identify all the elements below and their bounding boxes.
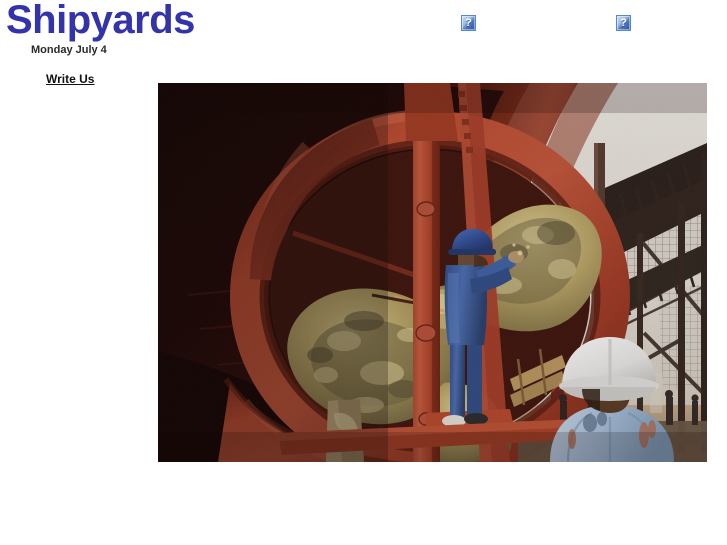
- question-mark-icon: ?: [465, 18, 472, 29]
- question-mark-icon: ?: [620, 18, 627, 29]
- write-us-link[interactable]: Write Us: [46, 72, 94, 86]
- broken-image-placeholder-2[interactable]: ?: [616, 15, 631, 31]
- photo-image: [158, 83, 707, 462]
- shipyard-propeller-photo: Shipyard workers servicing a ship's bron…: [158, 83, 707, 462]
- date-line: Monday July 4: [31, 44, 107, 57]
- broken-image-placeholder-1[interactable]: ?: [461, 15, 476, 31]
- page-title: Shipyards: [6, 0, 195, 43]
